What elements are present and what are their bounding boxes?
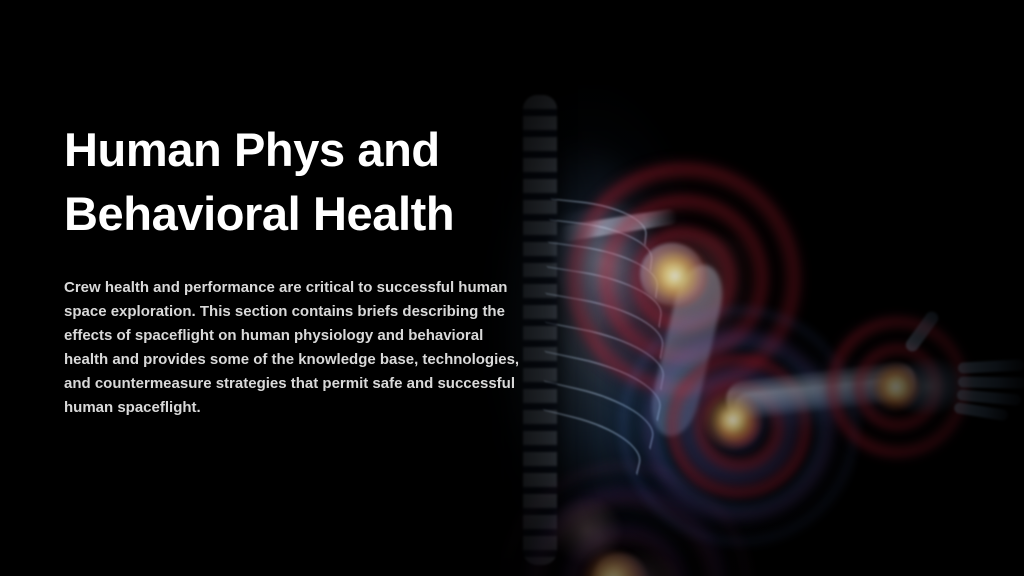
humeral-head: [640, 243, 704, 305]
slide: Human Phys and Behavioral Health Crew he…: [0, 0, 1024, 576]
page-title: Human Phys and Behavioral Health: [64, 118, 534, 246]
finger-middle: [958, 376, 1024, 388]
body-paragraph: Crew health and performance are critical…: [64, 246, 526, 420]
text-block: Human Phys and Behavioral Health Crew he…: [64, 118, 534, 420]
